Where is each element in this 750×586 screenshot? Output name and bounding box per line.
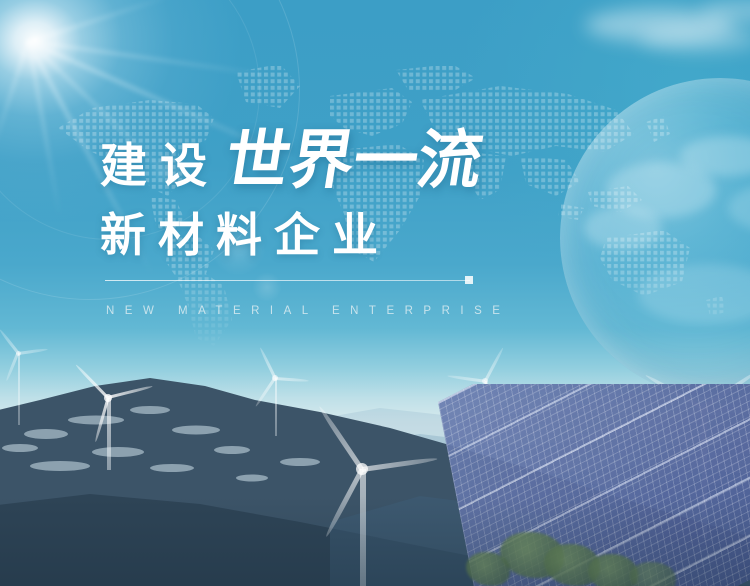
foreground-vignette (0, 496, 750, 586)
hero-banner: 建设 世界一流 新材料企业 NEW MATERIAL ENTERPRISE (0, 0, 750, 586)
headline-prefix: 建设 (100, 142, 220, 189)
divider-end-marker (465, 276, 473, 284)
headline-divider (105, 280, 470, 281)
headline-subtitle: NEW MATERIAL ENTERPRISE (106, 305, 620, 317)
headline-line-1: 建设 世界一流 (100, 128, 620, 200)
headline-line-2: 新材料企业 (100, 212, 620, 258)
headline-emphasis: 世界一流 (221, 128, 487, 192)
headline-block: 建设 世界一流 新材料企业 NEW MATERIAL ENTERPRISE (100, 128, 620, 317)
landscape-scene (0, 356, 750, 586)
